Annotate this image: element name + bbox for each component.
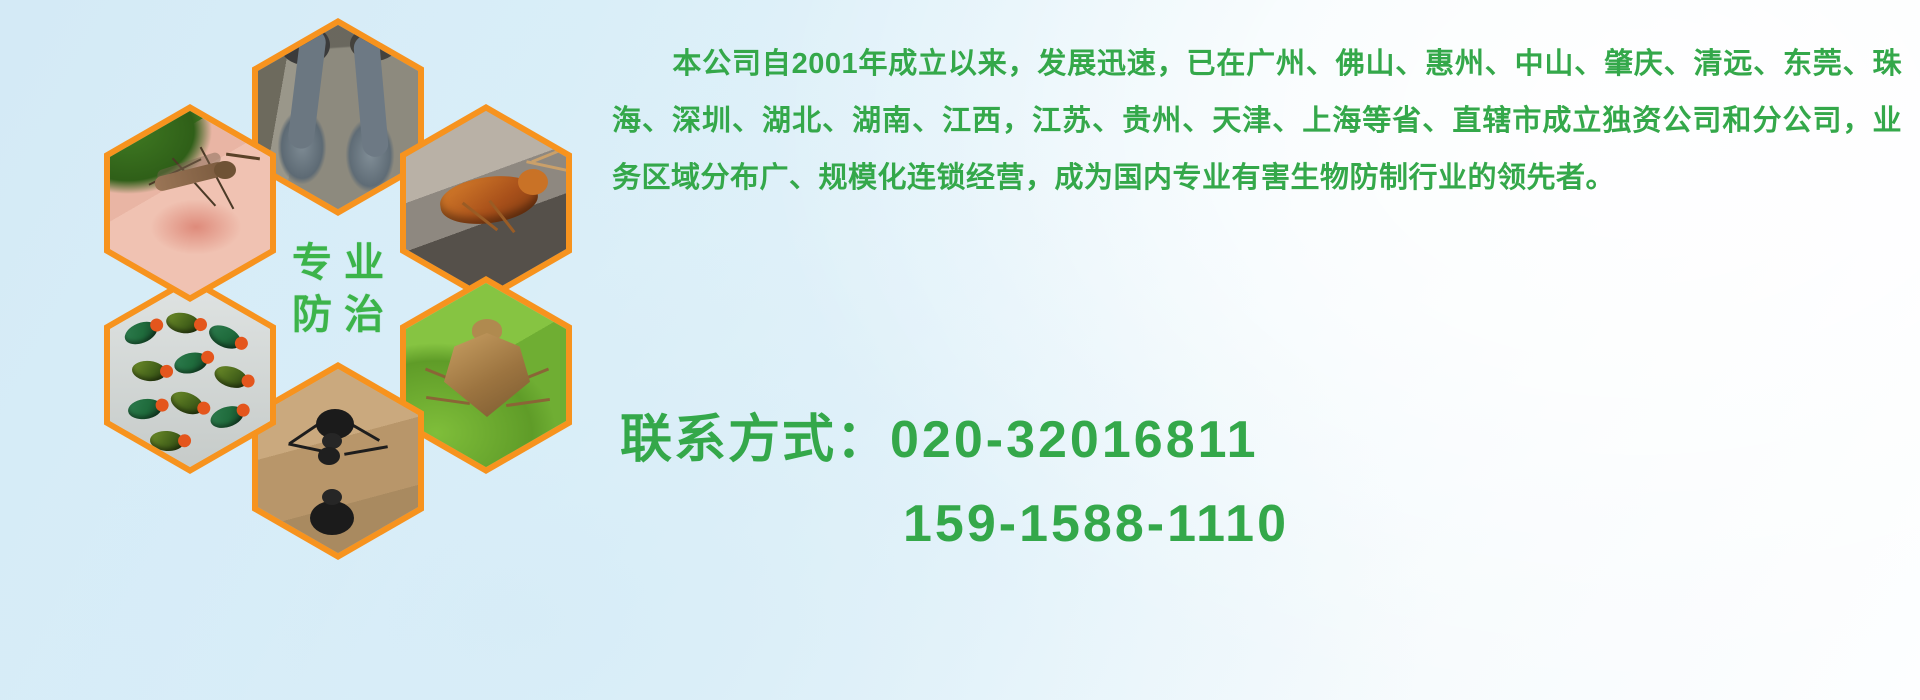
company-intro-paragraph: 本公司自2001年成立以来，发展迅速，已在广州、佛山、惠州、中山、肇庆、清远、东… — [612, 36, 1902, 207]
phone-secondary[interactable]: 159-1588-1110 — [903, 495, 1289, 553]
mosquito-photo — [110, 111, 270, 295]
hex-cell-flies — [104, 276, 276, 474]
phone-primary[interactable]: 020-32016811 — [890, 411, 1259, 469]
ant-photo — [258, 369, 418, 553]
hex-cell-cockroach — [400, 104, 572, 302]
hex-cell-center-slogan: 专业 防治 — [252, 190, 424, 388]
cockroach-photo — [406, 111, 566, 295]
flies-photo — [110, 283, 270, 467]
contact-block: 联系方式：020-32016811 159-1588-1110 — [620, 398, 1910, 566]
contact-secondary-row: 159-1588-1110 — [620, 482, 1910, 566]
slogan-line-1: 专业 — [280, 242, 396, 284]
contact-label: 联系方式： — [620, 411, 890, 469]
hex-cell-rat — [252, 18, 424, 216]
hex-cell-mosquito — [104, 104, 276, 302]
promo-banner: 专业 防治 本公司自2001年成立以来，发展迅速，已在广州、佛山、惠州、中山、肇… — [0, 0, 1920, 700]
honeycomb-collage: 专业 防治 — [88, 0, 588, 580]
rat-photo — [258, 25, 418, 209]
hex-cell-ant — [252, 362, 424, 560]
stinkbug-photo — [406, 283, 566, 467]
slogan-line-2: 防治 — [280, 294, 396, 336]
hex-cell-stinkbug — [400, 276, 572, 474]
paragraph-text: 本公司自2001年成立以来，发展迅速，已在广州、佛山、惠州、中山、肇庆、清远、东… — [612, 48, 1902, 194]
contact-primary-row: 联系方式：020-32016811 — [620, 398, 1910, 482]
